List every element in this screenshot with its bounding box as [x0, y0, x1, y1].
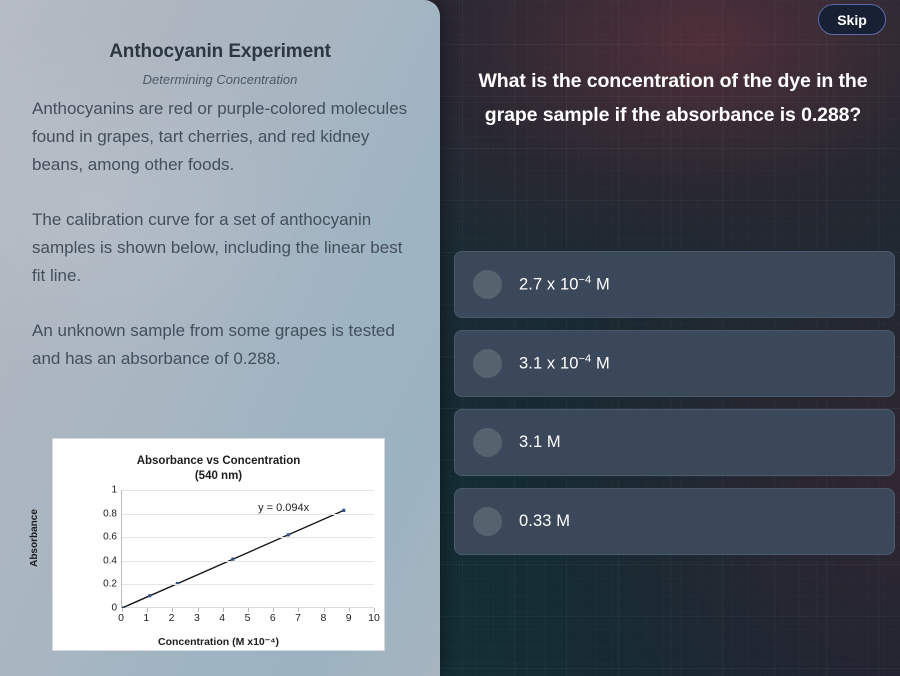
chart-x-tick: 9	[346, 612, 352, 624]
chart-x-tick: 10	[368, 612, 380, 624]
chart-x-tick: 5	[245, 612, 251, 624]
chart-x-tick: 0	[118, 612, 124, 624]
answer-option-label: 0.33 M	[519, 512, 570, 531]
chart-plot-area: y = 0.094x	[121, 490, 374, 608]
chart-gridline	[122, 561, 374, 562]
chart-y-axis-label: Absorbance	[29, 498, 40, 578]
chart-x-tick: 8	[320, 612, 326, 624]
chart-title: Absorbance vs Concentration (540 nm)	[57, 454, 380, 484]
chart-gridline	[122, 490, 374, 491]
chart-x-tick: 2	[169, 612, 175, 624]
question-prompt: What is the concentration of the dye in …	[452, 64, 894, 132]
chart-data-svg	[122, 490, 374, 608]
chart-gridline	[122, 537, 374, 538]
answer-options-list: 2.7 x 10−4 M3.1 x 10−4 M3.1 M0.33 M	[454, 251, 895, 567]
skip-button-label: Skip	[837, 12, 867, 28]
answer-option-label: 2.7 x 10−4 M	[519, 274, 610, 295]
chart-y-tick: 0.8	[83, 508, 117, 519]
chart-x-tick: 7	[295, 612, 301, 624]
answer-option-b[interactable]: 3.1 x 10−4 M	[454, 330, 895, 397]
answer-option-radio[interactable]	[473, 507, 502, 536]
passage-paragraph-2: The calibration curve for a set of antho…	[32, 206, 408, 290]
chart-x-tick: 1	[143, 612, 149, 624]
passage-paragraph-1: Anthocyanins are red or purple-colored m…	[32, 95, 408, 179]
chart-gridline	[122, 584, 374, 585]
chart-plot-wrapper: Absorbance 00.20.40.60.81 y = 0.094x 012…	[57, 490, 380, 640]
chart-y-tick: 0.2	[83, 579, 117, 590]
chart-title-line2: (540 nm)	[57, 469, 380, 484]
answer-option-label: 3.1 M	[519, 433, 561, 452]
chart-y-tick-labels: 00.20.40.60.81	[81, 490, 117, 608]
answer-option-radio[interactable]	[473, 349, 502, 378]
page-title: Anthocyanin Experiment	[32, 41, 408, 63]
chart-x-tick-labels: 012345678910	[121, 612, 374, 628]
answer-option-label: 3.1 x 10−4 M	[519, 353, 610, 374]
chart-equation-annotation: y = 0.094x	[258, 502, 309, 514]
chart-y-tick: 0	[83, 603, 117, 614]
chart-y-tick: 0.6	[83, 532, 117, 543]
answer-option-c[interactable]: 3.1 M	[454, 409, 895, 476]
chart-x-axis-label: Concentration (M x10⁻⁴)	[53, 636, 384, 648]
chart-y-tick: 0.4	[83, 555, 117, 566]
answer-option-a[interactable]: 2.7 x 10−4 M	[454, 251, 895, 318]
chart-y-tick: 1	[83, 485, 117, 496]
chart-title-line1: Absorbance vs Concentration	[137, 455, 301, 467]
answer-option-radio[interactable]	[473, 428, 502, 457]
chart-gridline	[122, 514, 374, 515]
calibration-curve-chart: Absorbance vs Concentration (540 nm) Abs…	[52, 438, 385, 651]
chart-x-tick: 3	[194, 612, 200, 624]
chart-x-tick: 6	[270, 612, 276, 624]
passage-paragraph-3: An unknown sample from some grapes is te…	[32, 317, 408, 373]
page-subtitle: Determining Concentration	[32, 72, 408, 87]
skip-button[interactable]: Skip	[818, 4, 886, 35]
answer-option-d[interactable]: 0.33 M	[454, 488, 895, 555]
chart-x-tick: 4	[219, 612, 225, 624]
answer-option-radio[interactable]	[473, 270, 502, 299]
